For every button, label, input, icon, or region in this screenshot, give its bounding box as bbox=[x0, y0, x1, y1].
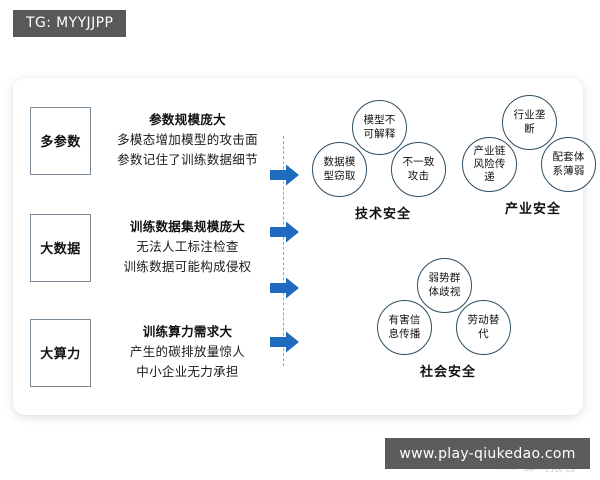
bubble-left: 有害信息传播 bbox=[377, 300, 432, 355]
right-arrow-icon bbox=[269, 220, 300, 244]
factor-row-duocanshu: 多参数 参数规模庞大 多模态增加模型的攻击面 参数记住了训练数据细节 bbox=[30, 98, 278, 183]
tag-box-dashuju: 大数据 bbox=[30, 214, 91, 282]
bubble-top: 模型不可解释 bbox=[352, 100, 407, 155]
factor-heading: 训练算力需求大 bbox=[97, 322, 278, 341]
factor-detail-line: 多模态增加模型的攻击面 bbox=[97, 130, 278, 151]
tg-watermark-badge: TG: MYYJJPP bbox=[13, 10, 126, 37]
cluster-technical-safety: 模型不可解释 数据模型窃取 不一致攻击 技术安全 bbox=[303, 100, 463, 250]
factor-text-block: 训练算力需求大 产生的碳排放量惊人 中小企业无力承担 bbox=[91, 322, 278, 383]
cluster-social-safety: 弱势群体歧视 有害信息传播 劳动替代 社会安全 bbox=[368, 258, 528, 408]
tag-box-label: 大算力 bbox=[40, 343, 81, 362]
factor-text-block: 训练数据集规模庞大 无法人工标注检查 训练数据可能构成侵权 bbox=[91, 217, 278, 278]
factor-detail-line: 无法人工标注检查 bbox=[97, 237, 278, 258]
bubble-right: 劳动替代 bbox=[456, 300, 511, 355]
bubble-label: 有害信息传播 bbox=[385, 314, 425, 340]
right-arrow-icon bbox=[269, 163, 300, 187]
right-arrow-icon bbox=[269, 276, 300, 300]
tag-box-duocanshu: 多参数 bbox=[30, 107, 91, 175]
bubble-label: 产业链风险传递 bbox=[470, 145, 510, 184]
factor-detail-line: 中小企业无力承担 bbox=[97, 362, 278, 383]
bubble-left: 产业链风险传递 bbox=[462, 137, 517, 192]
tag-box-label: 大数据 bbox=[40, 238, 81, 257]
cluster-label: 产业安全 bbox=[453, 198, 600, 217]
factor-row-dashuju: 大数据 训练数据集规模庞大 无法人工标注检查 训练数据可能构成侵权 bbox=[30, 205, 278, 290]
bubble-left: 数据模型窃取 bbox=[312, 142, 367, 197]
bubble-label: 行业垄断 bbox=[510, 109, 550, 135]
factor-heading: 训练数据集规模庞大 bbox=[97, 217, 278, 236]
bubble-right: 不一致攻击 bbox=[391, 142, 446, 197]
bubble-label: 劳动替代 bbox=[464, 314, 504, 340]
factor-detail-line: 训练数据可能构成侵权 bbox=[97, 257, 278, 278]
bubble-label: 数据模型窃取 bbox=[320, 156, 360, 182]
bubble-label: 弱势群体歧视 bbox=[425, 272, 465, 298]
tag-box-dasuanli: 大算力 bbox=[30, 319, 91, 387]
factor-detail-line: 产生的碳排放量惊人 bbox=[97, 342, 278, 363]
url-watermark-bar: www.play-qiukedao.com bbox=[385, 438, 590, 469]
factor-detail-line: 参数记住了训练数据细节 bbox=[97, 150, 278, 171]
right-arrow-icon bbox=[269, 330, 300, 354]
cluster-label: 社会安全 bbox=[368, 361, 528, 380]
factor-heading: 参数规模庞大 bbox=[97, 110, 278, 129]
bubble-top: 行业垄断 bbox=[502, 95, 557, 150]
bubble-top: 弱势群体歧视 bbox=[417, 258, 472, 313]
bubble-label: 配套体系薄弱 bbox=[549, 151, 589, 177]
factor-row-dasuanli: 大算力 训练算力需求大 产生的碳排放量惊人 中小企业无力承担 bbox=[30, 310, 278, 395]
bubble-right: 配套体系薄弱 bbox=[541, 137, 596, 192]
bubble-label: 模型不可解释 bbox=[360, 114, 400, 140]
tag-box-label: 多参数 bbox=[40, 131, 81, 150]
cluster-label: 技术安全 bbox=[303, 203, 463, 222]
factor-text-block: 参数规模庞大 多模态增加模型的攻击面 参数记住了训练数据细节 bbox=[91, 110, 278, 171]
cluster-industry-safety: 行业垄断 产业链风险传递 配套体系薄弱 产业安全 bbox=[453, 95, 600, 245]
infographic-card: 多参数 参数规模庞大 多模态增加模型的攻击面 参数记住了训练数据细节 大数据 训… bbox=[13, 78, 583, 415]
bubble-label: 不一致攻击 bbox=[399, 156, 439, 182]
